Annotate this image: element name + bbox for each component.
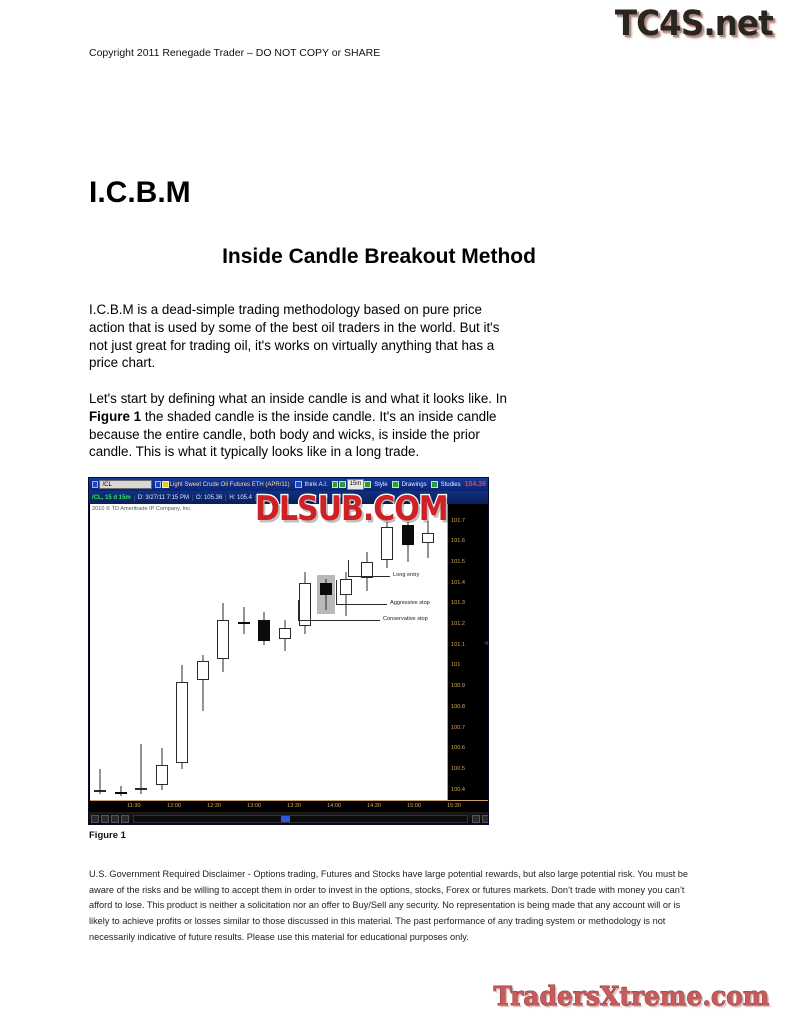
candlestick (422, 521, 434, 558)
candlestick (115, 786, 127, 796)
figure-1-container: /CL Light Sweet Crude Oil Futures ETH (A… (88, 477, 489, 825)
candlestick (94, 769, 106, 794)
site-logo-footer: TradersXtreme.com (493, 982, 769, 1012)
annotation-label: Long entry (393, 572, 419, 578)
definition-text-before: Let's start by defining what an inside c… (89, 391, 507, 406)
studies-label: Studies (441, 482, 461, 488)
time-axis-tick: 14:00 (327, 803, 341, 809)
candlestick (258, 612, 270, 645)
quote-date: D: 3/27/11 7:15 PM (134, 495, 192, 501)
candlestick (320, 579, 332, 610)
definition-text-after: the shaded candle is the inside candle. … (89, 409, 497, 459)
price-axis-tick: 101.5 (451, 559, 465, 565)
candle-body-down (115, 792, 127, 794)
time-axis-tick: 12:00 (167, 803, 181, 809)
candle-body-down (320, 583, 332, 595)
candlestick (197, 655, 209, 711)
think-ai-button[interactable]: think A.I. (295, 481, 328, 488)
scrollbar-thumb[interactable] (281, 816, 290, 822)
price-axis-tick: 100.8 (451, 704, 465, 710)
candle-wick (141, 744, 142, 794)
chart-quote-bar: /CL, 15 d 15m D: 3/27/11 7:15 PM O: 105.… (89, 491, 488, 504)
horizontal-scrollbar[interactable] (133, 815, 468, 823)
chart-toolbar[interactable]: /CL Light Sweet Crude Oil Futures ETH (A… (89, 478, 488, 491)
time-axis-tick: 13:00 (247, 803, 261, 809)
candlestick (402, 516, 414, 562)
definition-paragraph: Let's start by defining what an inside c… (89, 390, 519, 460)
price-axis-tick: 101.6 (451, 538, 465, 544)
candle-body-up (238, 622, 250, 624)
time-axis-tick: 12:30 (207, 803, 221, 809)
timeframe-button[interactable]: 15m (347, 479, 365, 490)
candle-body-up (217, 620, 229, 659)
candle-body-up (279, 628, 291, 638)
price-axis[interactable]: 101.7101.6101.5101.4101.3101.2101.110110… (447, 504, 489, 800)
time-axis-tick: 15:00 (407, 803, 421, 809)
symbol-lookup-icon[interactable] (155, 481, 161, 488)
price-axis-tick: 100.5 (451, 766, 465, 772)
candlestick (217, 603, 229, 671)
price-axis-tick: 101.2 (451, 621, 465, 627)
chart-grid-icon[interactable] (339, 481, 345, 488)
candle-body-up (197, 661, 209, 680)
candlestick (361, 552, 373, 591)
candlestick (381, 514, 393, 568)
annotation-connector (348, 560, 349, 576)
quote-symbol-timeframe: /CL, 15 d 15m (89, 495, 134, 501)
chart-type-icon[interactable] (332, 481, 338, 488)
page-title: I.C.B.M (89, 176, 191, 210)
candle-wick (120, 786, 121, 796)
annotation-connector (298, 600, 299, 620)
candle-body-up (176, 682, 188, 763)
candle-body-up (422, 533, 434, 543)
copyright-notice: Copyright 2011 Renegade Trader – DO NOT … (89, 47, 380, 59)
instrument-name: Light Sweet Crude Oil Futures ETH (APR/1… (170, 482, 290, 488)
candle-body-down (258, 620, 270, 641)
price-axis-tick: 100.9 (451, 683, 465, 689)
time-axis[interactable]: 11:3012:0012:3013:0013:3014:0014:3015:00… (90, 800, 489, 812)
chart-plot-area[interactable]: Long entryAggressive stopConservative st… (90, 504, 447, 800)
price-marker-icon (484, 640, 489, 646)
chart-bottom-toolbar[interactable] (89, 812, 489, 825)
thinkorswim-chart-window[interactable]: /CL Light Sweet Crude Oil Futures ETH (A… (88, 477, 489, 825)
time-axis-tick: 15:30 (447, 803, 461, 809)
symbol-input[interactable]: /CL (99, 480, 151, 489)
candlestick (238, 607, 250, 634)
site-logo-header: TC4S.net (615, 4, 773, 44)
palette-icon (364, 481, 371, 488)
quote-high: H: 105.4 (225, 495, 255, 501)
annotation-connector (336, 580, 337, 604)
style-button[interactable]: Style (364, 481, 387, 488)
candle-body-up (381, 527, 393, 560)
price-axis-tick: 101.1 (451, 642, 465, 648)
candlestick (340, 572, 352, 615)
crosshair-icon[interactable] (121, 815, 129, 823)
annotation-leader-line (298, 620, 380, 621)
candlestick (135, 744, 147, 794)
price-axis-tick: 101.4 (451, 580, 465, 586)
page-subtitle: Inside Candle Breakout Method (89, 245, 669, 269)
time-axis-tick: 14:30 (367, 803, 381, 809)
zoom-out-icon[interactable] (111, 815, 119, 823)
quote-open: O: 105.36 (192, 495, 225, 501)
candle-body-up (94, 790, 106, 792)
intro-paragraph: I.C.B.M is a dead-simple trading methodo… (89, 301, 519, 371)
think-ai-label: think A.I. (305, 482, 328, 488)
candlestick (299, 572, 311, 634)
studies-button[interactable]: Studies (431, 481, 461, 488)
zoom-in-icon[interactable] (101, 815, 109, 823)
candle-wick (243, 607, 244, 634)
scroll-right-icon[interactable] (472, 815, 480, 823)
pencil-icon (392, 481, 399, 488)
annotation-leader-line (336, 604, 387, 605)
price-axis-tick: 101.7 (451, 518, 465, 524)
figure-caption: Figure 1 (89, 830, 126, 841)
annotation-leader-line (348, 576, 390, 577)
legal-disclaimer: U.S. Government Required Disclaimer - Op… (89, 867, 689, 945)
drawings-button[interactable]: Drawings (392, 481, 427, 488)
candle-body-up (340, 579, 352, 596)
robot-icon (295, 481, 302, 488)
price-axis-tick: 100.7 (451, 725, 465, 731)
candlestick (279, 620, 291, 651)
chart-vendor-credit: 2010 © TD Ameritrade IP Company, Inc. (92, 506, 192, 512)
candlestick (176, 665, 188, 768)
fit-chart-icon[interactable] (482, 815, 489, 823)
candle-body-up (156, 765, 168, 786)
time-axis-tick: 11:30 (127, 803, 141, 809)
chart-line-icon (431, 481, 438, 488)
annotation-label: Aggressive stop (390, 600, 430, 606)
time-axis-tick: 13:30 (287, 803, 301, 809)
last-price-display: 104.36 (465, 481, 488, 488)
candle-body-down (402, 525, 414, 546)
flag-icon (162, 481, 168, 488)
drawings-label: Drawings (402, 482, 427, 488)
style-label: Style (374, 482, 387, 488)
price-axis-tick: 101 (451, 662, 460, 668)
price-axis-tick: 100.4 (451, 787, 465, 793)
layout-grid-icon[interactable] (91, 815, 99, 823)
menu-icon[interactable] (92, 481, 98, 488)
candlestick (156, 748, 168, 789)
figure-reference: Figure 1 (89, 409, 141, 424)
price-axis-tick: 101.3 (451, 600, 465, 606)
candle-body-up (135, 788, 147, 790)
quote-low: L (255, 495, 265, 501)
annotation-label: Conservative stop (383, 616, 428, 622)
price-axis-tick: 100.6 (451, 745, 465, 751)
